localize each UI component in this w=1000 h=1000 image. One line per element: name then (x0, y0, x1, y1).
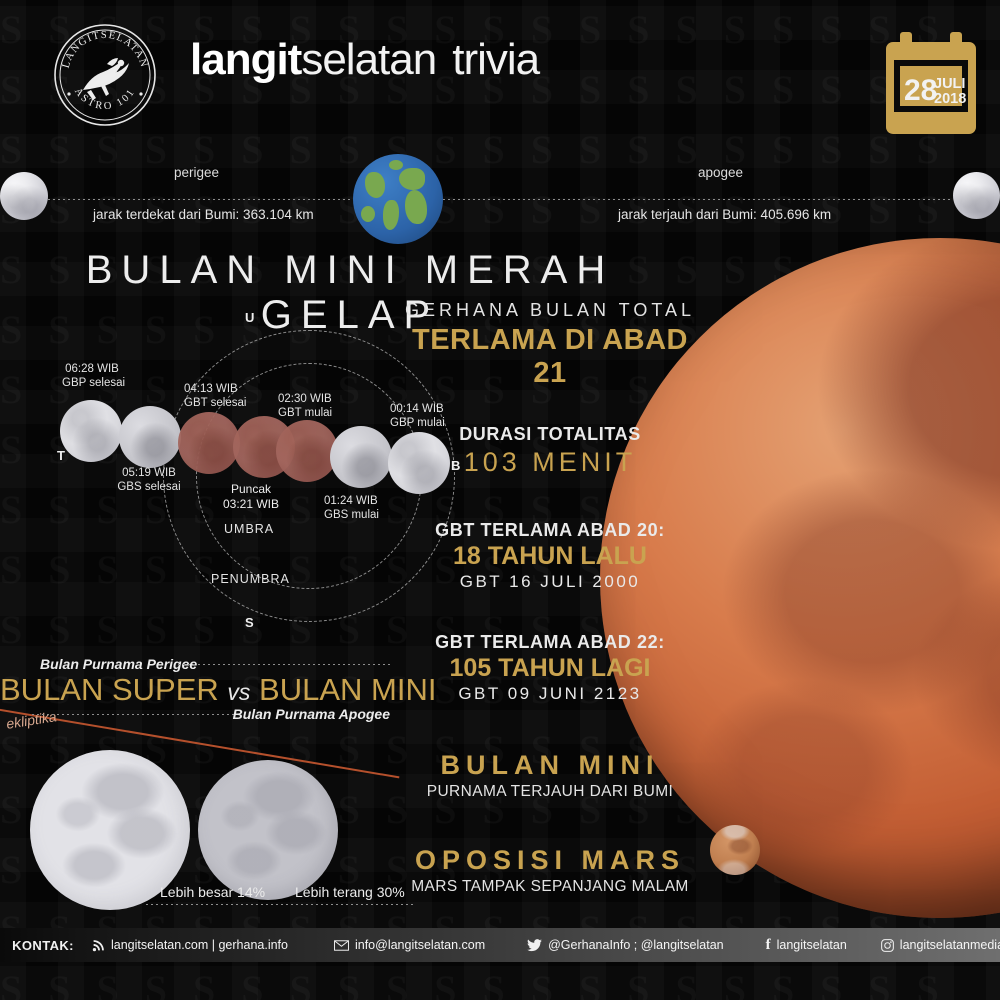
stat-dash-line (146, 904, 414, 905)
phase-time-2: 05:19 WIB (122, 467, 176, 479)
cardinal-north: U (245, 310, 254, 325)
earth-icon (353, 154, 443, 244)
century22-date: GBT 09 JUNI 2123 (400, 684, 700, 704)
fact-minimoon-block: BULAN MINI PURNAMA TERJAUH DARI BUMI (400, 750, 700, 801)
orbit-distance-bar: perigee jarak terdekat dari Bumi: 363.10… (0, 155, 1000, 245)
peak-time: 03:21 WIB (223, 497, 279, 511)
footer-facebook-text: langitselatan (777, 938, 847, 952)
mars-sub: MARS TAMPAK SEPANJANG MALAM (400, 878, 700, 896)
minimoon-sub: PURNAMA TERJAUH DARI BUMI (400, 783, 700, 801)
phase-time-5: 01:24 WIB (324, 495, 378, 507)
footer-item-facebook[interactable]: f langitselatan (766, 938, 847, 953)
peak-note: Puncak 03:21 WIB (196, 482, 306, 512)
phase-label-3: 04:13 WIB GBT selesai (184, 382, 246, 410)
footer-label: KONTAK: (0, 938, 86, 953)
phase-label-1: 06:28 WIB GBP selesai (62, 362, 122, 390)
perigee-dotted-line (48, 199, 353, 200)
umbra-label: UMBRA (224, 522, 274, 536)
brand-light: selatan (301, 35, 436, 84)
fact-century22-block: GBT TERLAMA ABAD 22: 105 TAHUN LAGI GBT … (400, 632, 700, 704)
footer-email-text: info@langitselatan.com (355, 938, 485, 952)
century20-label: GBT TERLAMA ABAD 20: (400, 520, 700, 541)
moon-icon-perigee (0, 172, 48, 220)
rss-icon (92, 939, 105, 952)
stat-bright-label: Lebih terang 30% (295, 884, 405, 900)
apogee-value: jarak terjauh dari Bumi: 405.696 km (618, 207, 831, 222)
phase-event-5: GBS mulai (324, 509, 379, 521)
fact-duration-block: DURASI TOTALITAS 103 MENIT (400, 424, 700, 478)
calendar-day: 28 (904, 74, 937, 107)
header: LANGITSELATAN ASTRO 101 langitselatan (0, 0, 1000, 150)
compare-title-vs: vs (227, 679, 250, 705)
phase-time-4: 02:30 WIB (278, 393, 332, 405)
stat-size-label: Lebih besar 14% (160, 884, 265, 900)
compare-top-dash (178, 664, 390, 665)
horse-rider-seal-icon: LANGITSELATAN ASTRO 101 (35, 20, 175, 130)
duration-label: DURASI TOTALITAS (400, 424, 700, 445)
calendar-month: JULI (934, 76, 965, 92)
century20-value: 18 TAHUN LALU (400, 542, 700, 571)
footer-contact-bar: KONTAK: langitselatan.com | gerhana.info… (0, 928, 1000, 962)
footer-item-instagram[interactable]: langitselatanmedia (881, 938, 1000, 952)
footer-twitter-text: @GerhanaInfo ; @langitselatan (548, 938, 723, 952)
fact-kicker: GERHANA BULAN TOTAL (400, 300, 700, 321)
logo[interactable]: LANGITSELATAN ASTRO 101 (35, 20, 175, 130)
facebook-icon: f (766, 938, 771, 953)
duration-value: 103 MENIT (400, 447, 700, 478)
phase-label-4: 02:30 WIB GBT mulai (278, 392, 332, 420)
footer-item-twitter[interactable]: @GerhanaInfo ; @langitselatan (527, 938, 723, 952)
phase-event-3: GBT selesai (184, 397, 246, 409)
mars-title: OPOSISI MARS (400, 845, 700, 876)
calendar-icon: 28 JULI 2018 (884, 30, 978, 136)
phase-time-1: 06:28 WIB (65, 363, 119, 375)
cardinal-south: S (245, 615, 254, 630)
moon-phase-6 (330, 426, 392, 488)
compare-top-caption: Bulan Purnama Perigee (40, 656, 197, 672)
phase-label-2: 05:19 WIB GBS selesai (112, 466, 186, 494)
compare-title: BULAN SUPER vs BULAN MINI (0, 672, 398, 708)
moon-phase-1 (60, 400, 122, 462)
instagram-icon (881, 939, 894, 952)
brand-title: langitselatantrivia (190, 35, 539, 85)
footer-item-website[interactable]: langitselatan.com | gerhana.info (92, 938, 288, 952)
footer-item-email[interactable]: info@langitselatan.com (334, 938, 485, 952)
perigee-value: jarak terdekat dari Bumi: 363.104 km (93, 207, 314, 222)
fact-mars-block: OPOSISI MARS MARS TAMPAK SEPANJANG MALAM (400, 845, 700, 896)
peak-label: Puncak (231, 482, 271, 496)
moon-phase-3 (178, 412, 240, 474)
footer-website-text: langitselatan.com | gerhana.info (111, 938, 288, 952)
penumbra-label: PENUMBRA (211, 572, 290, 586)
compare-bottom-dash (32, 714, 240, 715)
compare-title-gold-b: BULAN MINI (259, 672, 436, 707)
calendar-year: 2018 (934, 91, 966, 107)
compare-title-gold-a: BULAN SUPER (0, 672, 219, 707)
phase-label-5: 01:24 WIB GBS mulai (324, 494, 379, 522)
envelope-icon (334, 940, 349, 951)
mars-planet-icon (710, 825, 760, 875)
minimoon-title: BULAN MINI (400, 750, 700, 781)
moon-phase-5 (276, 420, 338, 482)
cardinal-east: T (57, 448, 65, 463)
phase-event-2: GBS selesai (117, 481, 180, 493)
century22-value: 105 TAHUN LAGI (400, 654, 700, 683)
phase-event-4: GBT mulai (278, 407, 332, 419)
facts-column: GERHANA BULAN TOTAL TERLAMA DI ABAD 21 D… (400, 300, 700, 918)
fact-century20-block: GBT TERLAMA ABAD 20: 18 TAHUN LALU GBT 1… (400, 520, 700, 592)
moon-icon-apogee (953, 172, 1000, 219)
brand-bold: langit (190, 35, 301, 84)
fact-headline-block: GERHANA BULAN TOTAL TERLAMA DI ABAD 21 (400, 300, 700, 390)
footer-instagram-text: langitselatanmedia (900, 938, 1000, 952)
twitter-icon (527, 939, 542, 952)
fact-headline: TERLAMA DI ABAD 21 (400, 324, 700, 390)
phase-time-3: 04:13 WIB (184, 383, 238, 395)
infographic-root: SSSSSSSSSSSSSSSSSSSSSSSSSSSSSSSSSSSSSSSS… (0, 0, 1000, 1000)
moon-phase-2 (119, 406, 181, 468)
compare-bottom-caption: Bulan Purnama Apogee (233, 706, 390, 722)
full-moon-icon-mini (198, 760, 338, 900)
century20-date: GBT 16 JULI 2000 (400, 572, 700, 592)
phase-event-1: GBP selesai (62, 377, 125, 389)
apogee-dotted-line (443, 199, 953, 200)
brand-word: trivia (452, 35, 539, 84)
century22-label: GBT TERLAMA ABAD 22: (400, 632, 700, 653)
supermoon-comparison: Bulan Purnama Perigee BULAN SUPER vs BUL… (0, 648, 420, 918)
apogee-label: apogee (698, 165, 743, 180)
perigee-label: perigee (174, 165, 219, 180)
calendar-badge: 28 JULI 2018 (884, 30, 978, 136)
